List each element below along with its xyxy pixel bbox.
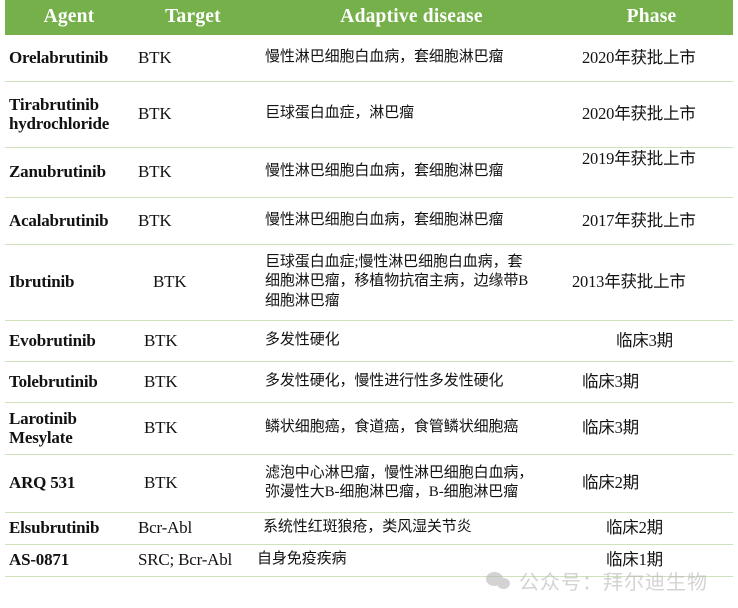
cell-agent: Larotinib Mesylate (5, 402, 133, 454)
cell-phase: 临床3期 (570, 402, 733, 454)
cell-disease: 系统性红斑狼疮，类风湿关节炎 (253, 512, 570, 544)
cell-agent: Acalabrutinib (5, 197, 133, 244)
cell-target: BTK (133, 320, 253, 361)
table-body: Orelabrutinib BTK 慢性淋巴细胞白血病，套细胞淋巴瘤 2020年… (5, 35, 733, 576)
cell-target: BTK (133, 454, 253, 512)
cell-phase: 临床3期 (570, 320, 733, 361)
table-row: Tirabrutinib hydrochloride BTK 巨球蛋白血症，淋巴… (5, 81, 733, 147)
cell-agent: AS-0871 (5, 544, 133, 576)
table-row: Zanubrutinib BTK 慢性淋巴细胞白血病，套细胞淋巴瘤 2019年获… (5, 147, 733, 197)
cell-target: BTK (133, 147, 253, 197)
cell-agent: Orelabrutinib (5, 35, 133, 81)
column-header-phase: Phase (570, 0, 733, 35)
cell-phase: 2013年获批上市 (570, 244, 733, 320)
cell-phase: 临床2期 (570, 512, 733, 544)
cell-disease: 鳞状细胞癌，食道癌，食管鳞状细胞癌 (253, 402, 570, 454)
cell-agent: Zanubrutinib (5, 147, 133, 197)
table-header-row: Agent Target Adaptive disease Phase (5, 0, 733, 35)
table-row: Acalabrutinib BTK 慢性淋巴细胞白血病，套细胞淋巴瘤 2017年… (5, 197, 733, 244)
drug-pipeline-table-container: Agent Target Adaptive disease Phase Orel… (5, 0, 733, 608)
table-row: AS-0871 SRC; Bcr-Abl 自身免疫疾病 临床1期 (5, 544, 733, 576)
cell-agent: ARQ 531 (5, 454, 133, 512)
table-row: Ibrutinib BTK 巨球蛋白血症;慢性淋巴细胞白血病，套 细胞淋巴瘤，移… (5, 244, 733, 320)
cell-phase: 2020年获批上市 (570, 81, 733, 147)
cell-agent: Elsubrutinib (5, 512, 133, 544)
column-header-disease: Adaptive disease (253, 0, 570, 35)
table-row: Elsubrutinib Bcr-Abl 系统性红斑狼疮，类风湿关节炎 临床2期 (5, 512, 733, 544)
cell-disease: 自身免疫疾病 (253, 544, 570, 576)
cell-target: Bcr-Abl (133, 512, 253, 544)
cell-phase: 2017年获批上市 (570, 197, 733, 244)
table-row: Larotinib Mesylate BTK 鳞状细胞癌，食道癌，食管鳞状细胞癌… (5, 402, 733, 454)
cell-target: BTK (133, 35, 253, 81)
cell-phase: 2019年获批上市 (570, 147, 733, 197)
cell-target: BTK (133, 402, 253, 454)
table-row: Evobrutinib BTK 多发性硬化 临床3期 (5, 320, 733, 361)
cell-target: BTK (133, 361, 253, 402)
column-header-agent: Agent (5, 0, 133, 35)
table-row: Orelabrutinib BTK 慢性淋巴细胞白血病，套细胞淋巴瘤 2020年… (5, 35, 733, 81)
cell-disease: 慢性淋巴细胞白血病，套细胞淋巴瘤 (253, 197, 570, 244)
table-header: Agent Target Adaptive disease Phase (5, 0, 733, 35)
cell-target: BTK (133, 244, 253, 320)
cell-agent: Tolebrutinib (5, 361, 133, 402)
cell-phase: 2020年获批上市 (570, 35, 733, 81)
column-header-target: Target (133, 0, 253, 35)
cell-agent: Evobrutinib (5, 320, 133, 361)
cell-disease: 滤泡中心淋巴瘤，慢性淋巴细胞白血病， 弥漫性大B-细胞淋巴瘤，B-细胞淋巴瘤 (253, 454, 570, 512)
cell-target: BTK (133, 197, 253, 244)
cell-disease: 慢性淋巴细胞白血病，套细胞淋巴瘤 (253, 35, 570, 81)
cell-disease: 慢性淋巴细胞白血病，套细胞淋巴瘤 (253, 147, 570, 197)
cell-target: SRC; Bcr-Abl (133, 544, 253, 576)
table-row: ARQ 531 BTK 滤泡中心淋巴瘤，慢性淋巴细胞白血病， 弥漫性大B-细胞淋… (5, 454, 733, 512)
drug-pipeline-table: Agent Target Adaptive disease Phase Orel… (5, 0, 733, 577)
cell-disease: 巨球蛋白血症，淋巴瘤 (253, 81, 570, 147)
cell-phase: 临床2期 (570, 454, 733, 512)
cell-agent: Ibrutinib (5, 244, 133, 320)
table-row: Tolebrutinib BTK 多发性硬化，慢性进行性多发性硬化 临床3期 (5, 361, 733, 402)
cell-target: BTK (133, 81, 253, 147)
cell-phase: 临床1期 (570, 544, 733, 576)
cell-phase: 临床3期 (570, 361, 733, 402)
cell-disease: 多发性硬化，慢性进行性多发性硬化 (253, 361, 570, 402)
cell-disease: 多发性硬化 (253, 320, 570, 361)
cell-disease: 巨球蛋白血症;慢性淋巴细胞白血病，套 细胞淋巴瘤，移植物抗宿主病，边缘带B 细胞… (253, 244, 570, 320)
cell-agent: Tirabrutinib hydrochloride (5, 81, 133, 147)
